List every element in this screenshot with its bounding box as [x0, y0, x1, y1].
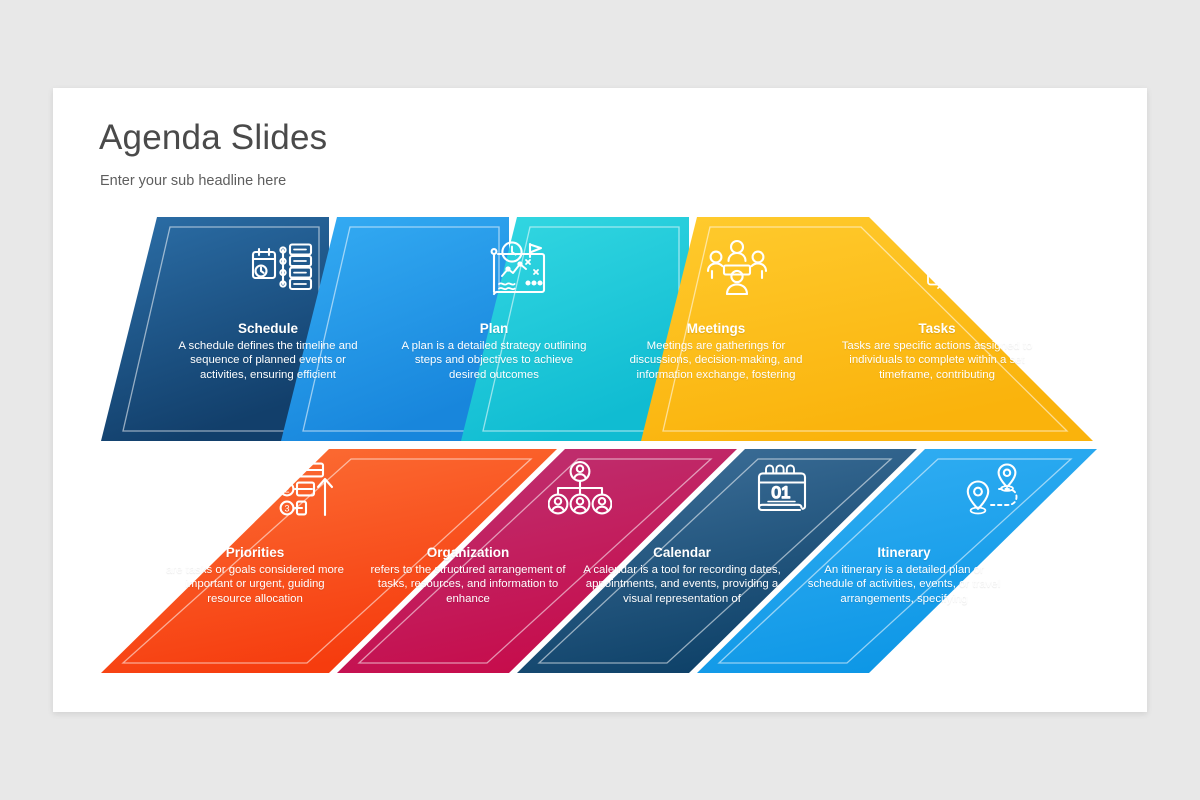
- chevron-diagram: [53, 88, 1147, 712]
- chevron-shape-tasks: [641, 217, 1093, 441]
- slide-canvas: Agenda Slides Enter your sub headline he…: [53, 88, 1147, 712]
